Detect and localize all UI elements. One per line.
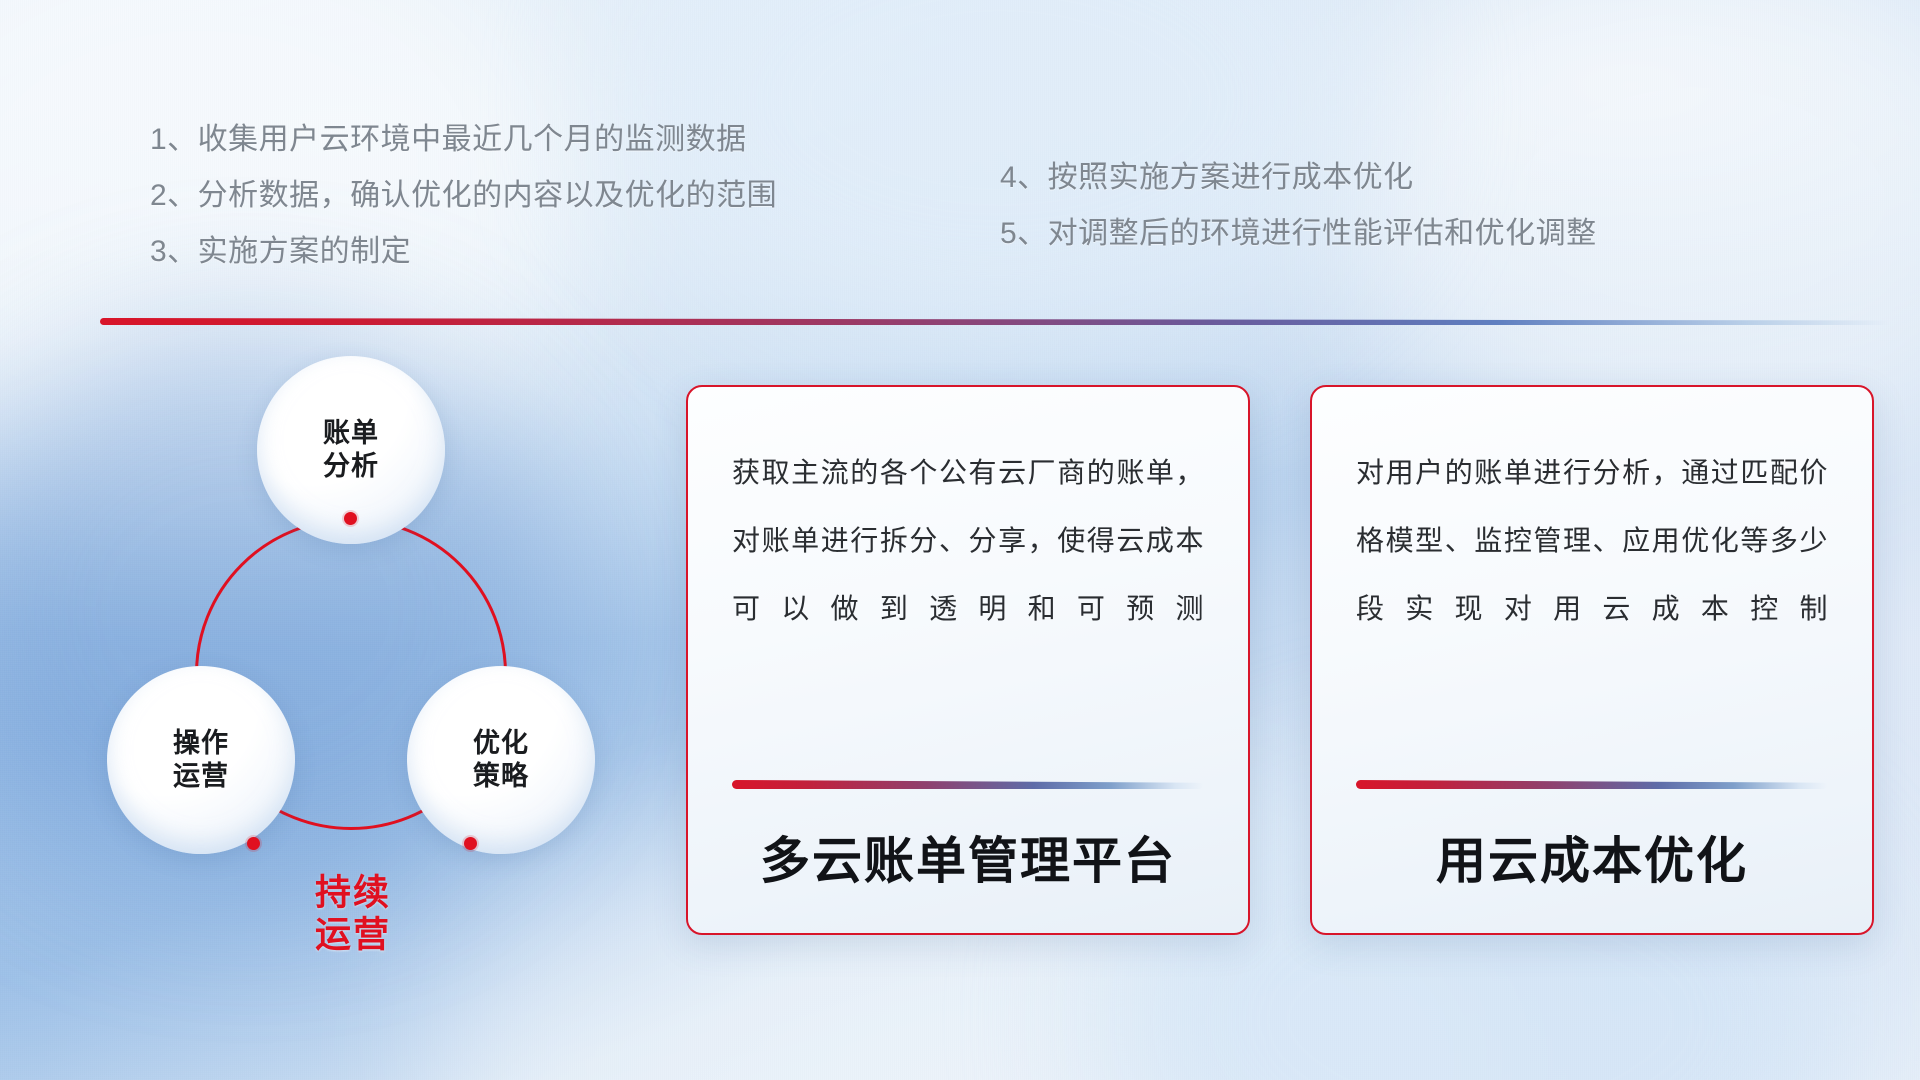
venn-bubble-label: 操作 运营 [173, 727, 229, 793]
feature-card-divider [732, 780, 1204, 789]
venn-bubble-label-line1: 账单 [323, 418, 379, 448]
venn-bubble-label-line1: 优化 [473, 728, 529, 758]
venn-diagram: 账单 分析 操作 运营 优化 策略 持续 运营 [95, 348, 655, 948]
feature-card-body: 对用户的账单进行分析，通过匹配价格模型、监控管理、应用优化等多少段实现对用云成本… [1356, 439, 1828, 643]
venn-node-dot-icon [344, 512, 357, 525]
feature-card-body: 获取主流的各个公有云厂商的账单，对账单进行拆分、分享，使得云成本可以做到透明和可… [732, 439, 1204, 643]
feature-card-multicloud-billing[interactable]: 获取主流的各个公有云厂商的账单，对账单进行拆分、分享，使得云成本可以做到透明和可… [686, 385, 1250, 935]
feature-card-title: 多云账单管理平台 [732, 821, 1204, 893]
venn-bubble-label-line2: 运营 [173, 761, 229, 791]
feature-card-cost-optimization[interactable]: 对用户的账单进行分析，通过匹配价格模型、监控管理、应用优化等多少段实现对用云成本… [1310, 385, 1874, 935]
venn-bubble-label: 优化 策略 [473, 727, 529, 793]
venn-bubble-label-line1: 操作 [173, 728, 229, 758]
step-item: 4、按照实施方案进行成本优化 [1000, 150, 1597, 206]
venn-bubble-label-line2: 分析 [323, 451, 379, 481]
venn-center-label-line2: 运营 [315, 914, 391, 955]
feature-card-title: 用云成本优化 [1356, 821, 1828, 893]
venn-bubble-operations[interactable]: 操作 运营 [107, 666, 295, 854]
feature-cards: 获取主流的各个公有云厂商的账单，对账单进行拆分、分享，使得云成本可以做到透明和可… [686, 385, 1874, 935]
step-item: 1、收集用户云环境中最近几个月的监测数据 [150, 112, 777, 168]
venn-center-label: 持续 运营 [253, 872, 453, 957]
steps-left-column: 1、收集用户云环境中最近几个月的监测数据 2、分析数据，确认优化的内容以及优化的… [150, 112, 777, 280]
step-item: 3、实施方案的制定 [150, 224, 777, 280]
venn-bubble-label: 账单 分析 [323, 417, 379, 483]
venn-bubble-optimization-strategy[interactable]: 优化 策略 [407, 666, 595, 854]
steps-right-column: 4、按照实施方案进行成本优化 5、对调整后的环境进行性能评估和优化调整 [1000, 150, 1597, 262]
venn-node-dot-icon [247, 837, 260, 850]
step-item: 5、对调整后的环境进行性能评估和优化调整 [1000, 206, 1597, 262]
feature-card-divider [1356, 780, 1828, 789]
venn-center-label-line1: 持续 [315, 872, 391, 913]
venn-node-dot-icon [464, 837, 477, 850]
step-item: 2、分析数据，确认优化的内容以及优化的范围 [150, 168, 777, 224]
venn-bubble-label-line2: 策略 [473, 761, 529, 791]
